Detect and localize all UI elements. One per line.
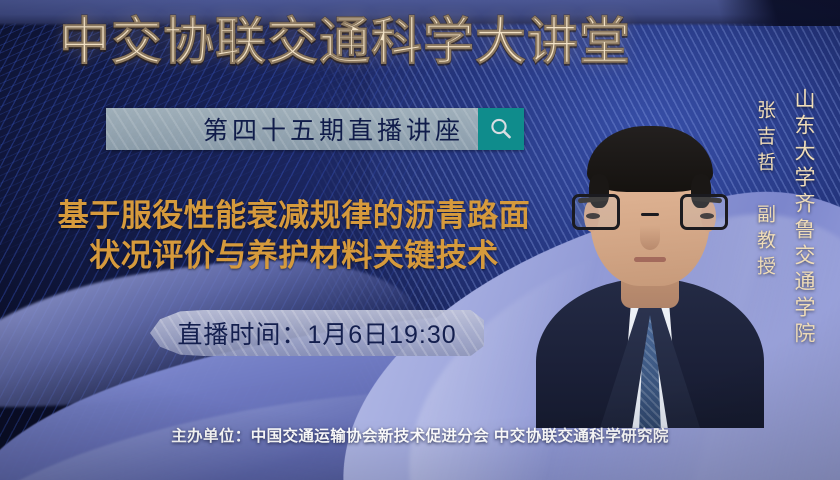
speaker-title-spacer bbox=[754, 178, 775, 204]
broadcast-time-pill: 直播时间：1月6日19:30 bbox=[150, 310, 484, 356]
search-icon-box[interactable] bbox=[478, 108, 524, 150]
nose-shape bbox=[640, 226, 660, 250]
episode-banner-body: 第四十五期直播讲座 bbox=[106, 108, 478, 150]
lecture-topic-line-1: 基于服役性能衰减规律的沥青路面 bbox=[24, 196, 564, 236]
lecture-topic: 基于服役性能衰减规律的沥青路面 状况评价与养护材料关键技术 bbox=[24, 196, 564, 275]
hair-shape bbox=[587, 126, 713, 192]
lecture-topic-line-2: 状况评价与养护材料关键技术 bbox=[24, 236, 564, 276]
organizer-footer: 主办单位：中国交通运输协会新技术促进分会 中交协联交通科学研究院 bbox=[0, 424, 840, 446]
episode-label: 第四十五期直播讲座 bbox=[203, 111, 464, 147]
eyeglasses-lens-right bbox=[680, 194, 728, 230]
broadcast-time-text: 直播时间：1月6日19:30 bbox=[177, 315, 456, 351]
speaker-organization: 山东大学齐鲁交通学院 bbox=[788, 88, 818, 348]
mouth-shape bbox=[634, 257, 666, 262]
speaker-title: 副教授 bbox=[754, 204, 775, 282]
eyeglasses-lens-left bbox=[572, 194, 620, 230]
episode-banner: 第四十五期直播讲座 bbox=[106, 108, 524, 150]
speaker-photo bbox=[552, 56, 748, 428]
page-title: 中交协联交通科学大讲堂 bbox=[0, 16, 840, 67]
eyeglasses-bridge bbox=[641, 213, 659, 216]
search-icon bbox=[488, 116, 514, 142]
speaker-name-and-title: 张吉哲 副教授 bbox=[751, 100, 778, 282]
speaker-name: 张吉哲 bbox=[754, 100, 775, 178]
livestream-poster: 中交协联交通科学大讲堂 第四十五期直播讲座 基于服役性能衰减规律的沥青路面 状况… bbox=[0, 0, 840, 480]
